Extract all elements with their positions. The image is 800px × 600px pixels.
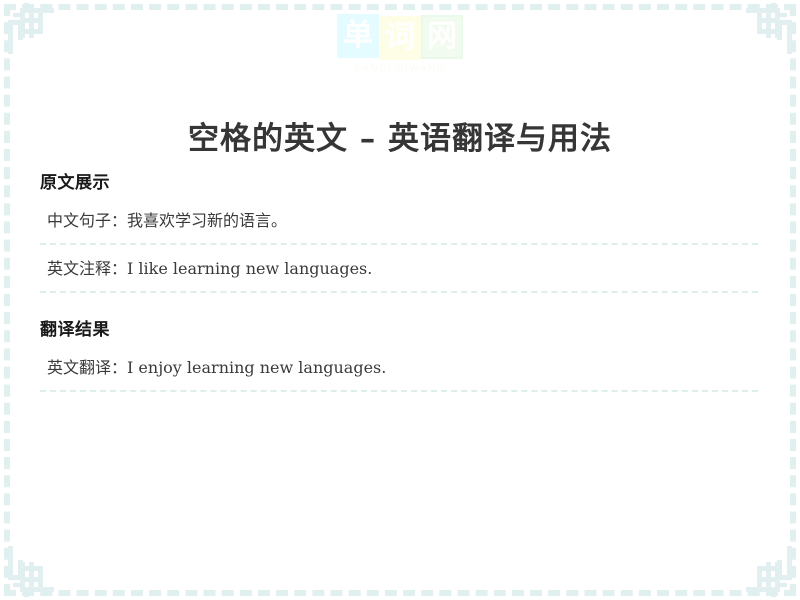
site-logo[interactable]: 单 词 网 DANCI DIWANG [0,14,800,73]
page-title: 空格的英文 – 英语翻译与用法 [0,113,800,158]
corner-ornament-bottom-right [742,542,800,600]
page-root: 单 词 网 DANCI DIWANG 空格的英文 – 英语翻译与用法 原文展示 … [0,0,800,600]
row-value: 我喜欢学习新的语言。 [127,211,287,230]
row-text: 中文句子：我喜欢学习新的语言。 [47,209,758,233]
row-label: 英文翻译： [47,358,127,377]
section-heading-translation: 翻译结果 [40,315,758,340]
logo-subtitle: DANCI DIWANG [354,63,445,73]
row-english-note: 英文注释：I like learning new languages. [40,257,758,293]
row-value: I like learning new languages. [127,259,372,278]
row-value: I enjoy learning new languages. [127,358,386,377]
logo-tiles: 单 词 网 [337,14,463,60]
logo-char-3: 网 [421,15,463,59]
row-label: 英文注释： [47,259,127,278]
corner-ornament-bottom-left [0,542,58,600]
logo-char-2: 词 [379,16,421,60]
row-chinese-sentence: 中文句子：我喜欢学习新的语言。 [40,209,758,245]
content-area: 原文展示 中文句子：我喜欢学习新的语言。 英文注释：I like learnin… [40,168,758,392]
logo-char-1: 单 [337,14,379,58]
row-english-translation: 英文翻译：I enjoy learning new languages. [40,356,758,392]
row-label: 中文句子： [47,211,127,230]
row-text: 英文翻译：I enjoy learning new languages. [47,356,758,380]
section-heading-original: 原文展示 [40,168,758,193]
row-text: 英文注释：I like learning new languages. [47,257,758,281]
